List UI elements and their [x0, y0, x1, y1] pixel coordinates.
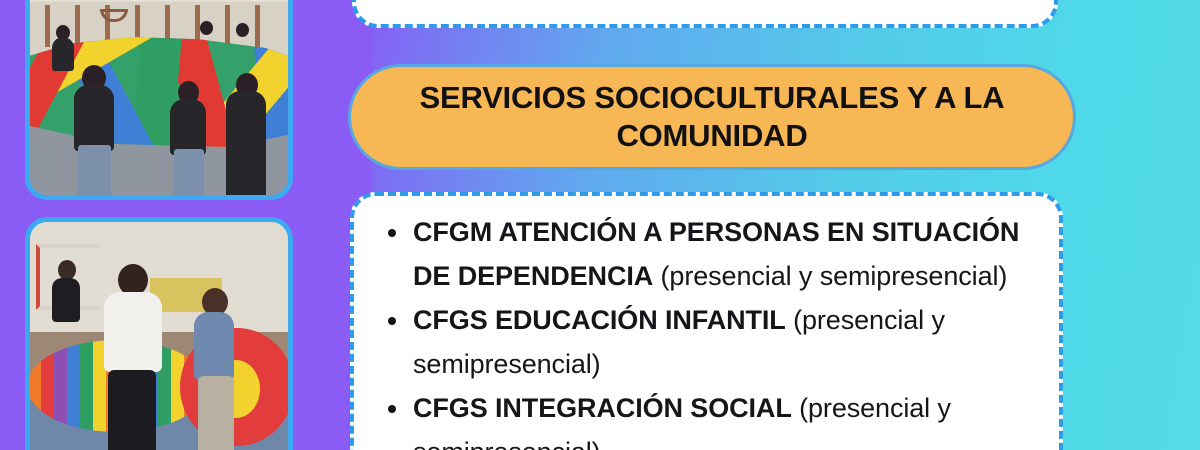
course-list-card: CFGM ATENCIÓN A PERSONAS EN SITUACIÓN DE…	[350, 192, 1063, 450]
section-title-banner: SERVICIOS SOCIOCULTURALES Y A LA COMUNID…	[348, 64, 1076, 170]
list-item: CFGS EDUCACIÓN INFANTIL (presencial y se…	[386, 298, 1041, 386]
top-clipped-card	[352, 0, 1058, 28]
course-code: CFGS EDUCACIÓN INFANTIL	[413, 305, 786, 335]
photo-column	[25, 0, 293, 450]
photo-card-parachute	[25, 0, 293, 200]
students-group	[30, 0, 288, 195]
course-list: CFGM ATENCIÓN A PERSONAS EN SITUACIÓN DE…	[354, 196, 1059, 450]
course-code: CFGS INTEGRACIÓN SOCIAL	[413, 393, 792, 423]
list-item: CFGS INTEGRACIÓN SOCIAL (presencial y se…	[386, 386, 1041, 450]
page-title: SERVICIOS SOCIOCULTURALES Y A LA COMUNID…	[351, 79, 1073, 155]
course-modality: (presencial y semipresencial)	[653, 261, 1007, 291]
photo-card-tunnel	[25, 217, 293, 450]
list-item: CFGM ATENCIÓN A PERSONAS EN SITUACIÓN DE…	[386, 210, 1041, 298]
